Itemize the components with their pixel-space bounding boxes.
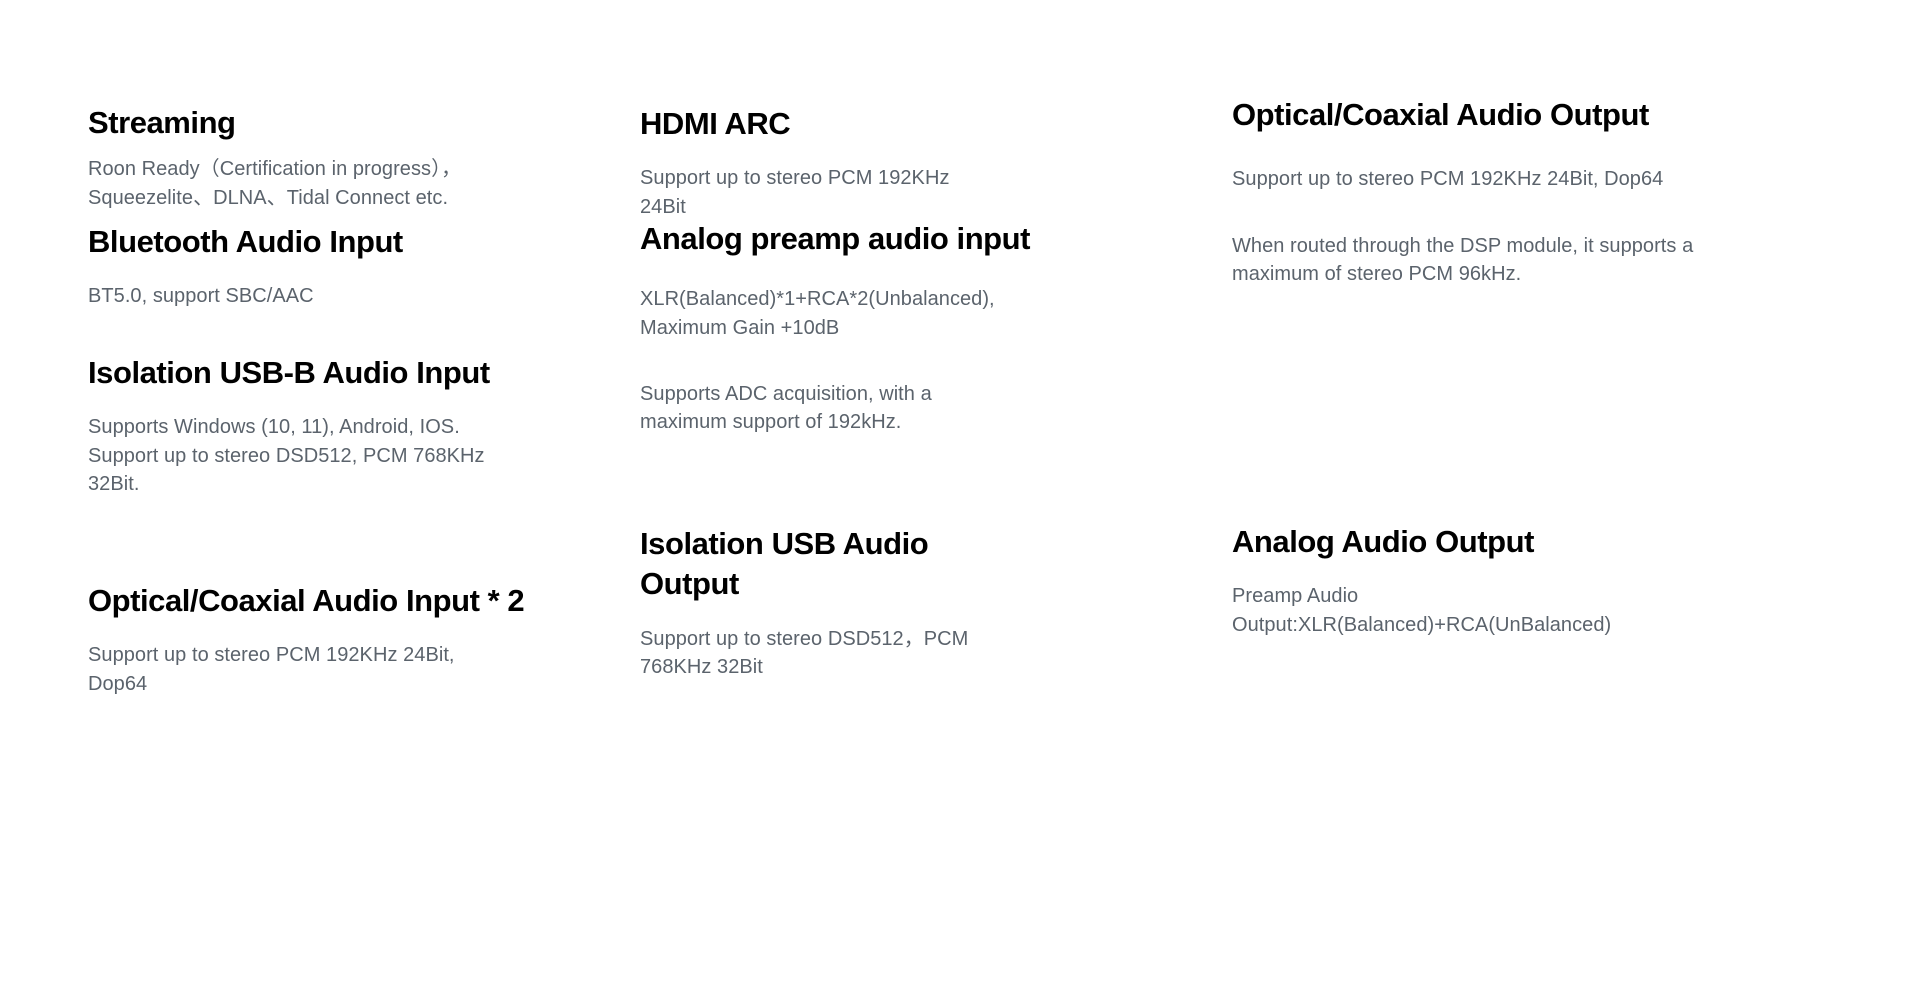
spec-body: Supports Windows (10, 11), Android, IOS.… [88,413,488,498]
spec-block-analog-preamp-audio-input: Analog preamp audio input XLR(Balanced)*… [640,219,1110,437]
spec-body: Preamp Audio Output:XLR(Balanced)+RCA(Un… [1232,582,1662,639]
spec-block-bluetooth-audio-input: Bluetooth Audio Input BT5.0, support SBC… [88,222,588,311]
spec-block-analog-audio-output: Analog Audio Output Preamp Audio Output:… [1232,522,1732,639]
spec-block-optical-coaxial-audio-input: Optical/Coaxial Audio Input * 2 Support … [88,581,588,698]
spec-body: Roon Ready（Certification in progress），Sq… [88,155,508,212]
spec-heading: Analog Audio Output [1232,522,1732,562]
spec-body: Support up to stereo PCM 192KHz 24Bit, D… [1232,165,1712,193]
spec-body: Support up to stereo PCM 192KHz 24Bit, D… [88,641,488,698]
spec-block-isolation-usb-b-audio-input: Isolation USB-B Audio Input Supports Win… [88,353,588,498]
spec-heading: Isolation USB-B Audio Input [88,353,558,393]
spec-heading: Bluetooth Audio Input [88,222,588,262]
spec-body: XLR(Balanced)*1+RCA*2(Unbalanced), Maxim… [640,285,1020,342]
spec-heading: HDMI ARC [640,104,1110,144]
spec-sheet: Streaming Roon Ready（Certification in pr… [0,0,1920,1000]
spec-block-hdmi-arc: HDMI ARC Support up to stereo PCM 192KHz… [640,104,1110,221]
spec-heading: Isolation USB Audio Output [640,524,1020,605]
spec-body: Supports ADC acquisition, with a maximum… [640,380,970,437]
spec-heading: Optical/Coaxial Audio Output [1232,95,1722,135]
spec-body: BT5.0, support SBC/AAC [88,282,588,310]
spec-block-isolation-usb-audio-output: Isolation USB Audio Output Support up to… [640,524,1110,681]
spec-block-optical-coaxial-audio-output: Optical/Coaxial Audio Output Support up … [1232,95,1732,288]
spec-heading: Streaming [88,103,588,143]
spec-block-streaming: Streaming Roon Ready（Certification in pr… [88,103,588,212]
spec-heading: Optical/Coaxial Audio Input * 2 [88,581,558,621]
spec-body: When routed through the DSP module, it s… [1232,232,1712,289]
spec-heading: Analog preamp audio input [640,219,1040,259]
spec-body: Support up to stereo DSD512，PCM 768KHz 3… [640,625,1000,682]
spec-body: Support up to stereo PCM 192KHz 24Bit [640,164,980,221]
